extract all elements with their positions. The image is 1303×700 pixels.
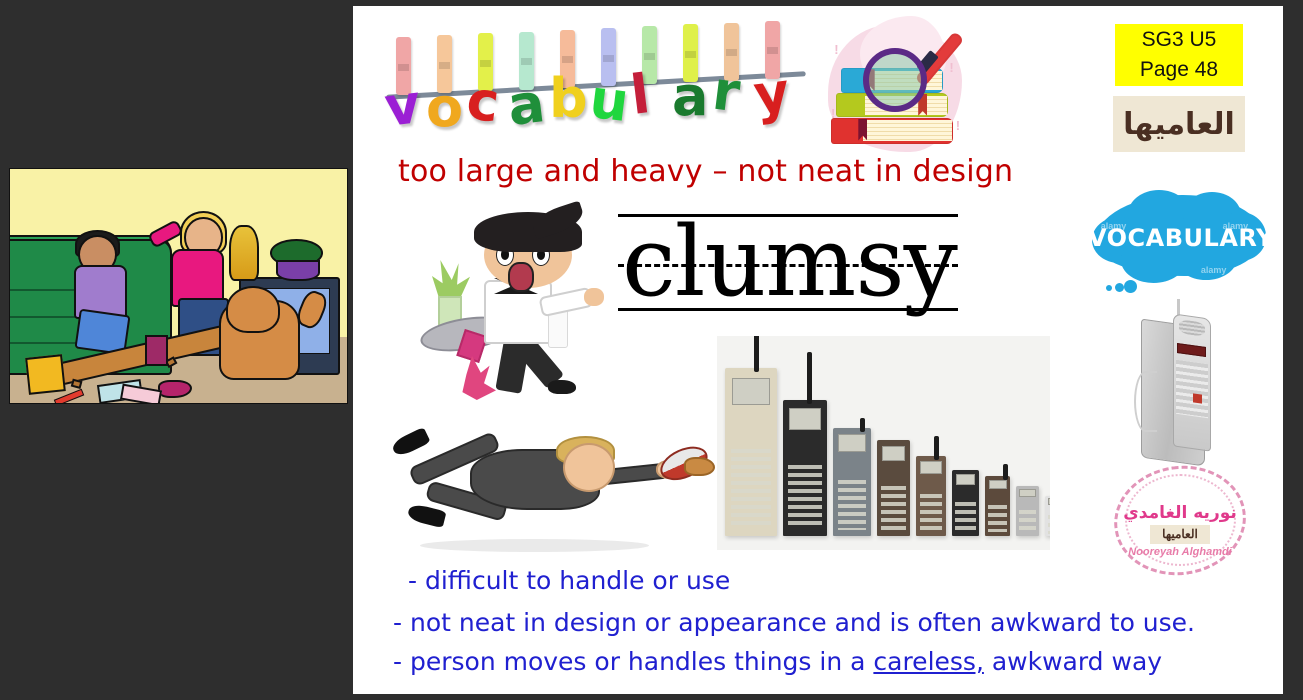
books-magnifier-clipart: ! ! ! ! (815, 16, 975, 161)
wreath-english-name: Nooreyah Alghamdi (1105, 546, 1255, 558)
lesson-reference-label: SG3 U5 Page 48 (1115, 24, 1243, 86)
diver-head (563, 443, 616, 492)
hanging-letter-y: y (751, 65, 793, 123)
hanging-letter-c: c (464, 74, 502, 131)
phone-antenna (934, 436, 939, 460)
mobile-phone-6 (952, 470, 979, 536)
hanging-letter-r: r (710, 63, 743, 120)
phone-wrist-strap (1134, 371, 1157, 432)
phone-antenna (754, 336, 759, 372)
cartoon-thumbnail-image[interactable] (9, 168, 348, 404)
waiter-hand (584, 288, 604, 306)
waiter-shoe (548, 380, 576, 394)
phone-end-key (1193, 394, 1202, 404)
handwriting-practice-block: clumsy (618, 206, 958, 316)
hanging-letter-a: a (672, 70, 708, 124)
phone-antenna (1003, 464, 1008, 480)
pink-drink-splash (456, 356, 496, 400)
mobile-phone-5 (916, 456, 946, 536)
fallen-book (25, 354, 66, 395)
phone-antenna (860, 418, 865, 432)
arabic-title-text: العاميها (1123, 107, 1235, 142)
vocabulary-clothesline-banner: vocabulary (386, 10, 806, 128)
mobile-phone-7 (985, 476, 1010, 536)
diver-shoe-lower (406, 502, 446, 528)
wreath-arabic-box: العاميها (1150, 525, 1210, 544)
green-drink-splash (432, 260, 470, 300)
bullet-line-2: - not neat in design or appearance and i… (393, 608, 1195, 637)
watermark-alamy-2: alamy (1223, 221, 1249, 231)
magnifier-lens (863, 48, 927, 112)
clumsy-waiter-clipart (408, 204, 608, 404)
lesson-ref-line1: SG3 U5 (1115, 25, 1243, 55)
headline-text: too large and heavy – not neat in design (398, 154, 1038, 189)
vocabulary-word: clumsy (622, 212, 962, 312)
bullet-line-1: - difficult to handle or use (408, 566, 730, 595)
hanging-letter-a: a (505, 76, 548, 134)
hanging-letter-b: b (549, 72, 588, 126)
wreath-arabic-name: نوريه الغامدي (1105, 503, 1255, 523)
mobile-phones-evolution-photo[interactable] (717, 336, 1050, 550)
vocabulary-thought-cloud: VOCABULARY alamy alamy alamy (1088, 188, 1270, 298)
diving-man-clipart (389, 411, 699, 556)
hanging-letter-u: u (587, 72, 632, 130)
spilled-glass (145, 335, 169, 365)
bullet-3-post: awkward way (984, 647, 1162, 676)
mobile-phone-4 (877, 440, 910, 536)
hanging-letter-o: o (426, 81, 463, 135)
brick-phone-image (1109, 306, 1254, 476)
watermark-alamy-3: alamy (1201, 265, 1227, 275)
mobile-phone-1 (725, 368, 777, 536)
hanging-letter-v: v (382, 77, 424, 135)
phone-antenna (807, 352, 812, 404)
plant-pot (276, 260, 320, 281)
teacher-signature-logo: نوريه الغامدي العاميها Nooreyah Alghamdi (1105, 461, 1255, 579)
phone-keypad (1176, 360, 1208, 419)
diver-shoe-upper (390, 427, 431, 459)
child-on-sofa (67, 235, 134, 352)
bullet-line-3: - person moves or handles things in a ca… (393, 647, 1162, 676)
bullet-3-underlined: careless, (873, 647, 984, 676)
mobile-phone-3 (833, 428, 871, 536)
watermark-alamy-1: alamy (1101, 221, 1127, 231)
diver-shadow (420, 539, 649, 552)
lesson-ref-line2: Page 48 (1115, 55, 1243, 85)
slide-canvas[interactable]: vocabulary ! ! ! ! too large and heavy – (353, 6, 1283, 694)
waiter-open-mouth (508, 262, 534, 292)
bullet-3-pre: - person moves or handles things in a (393, 647, 873, 676)
mobile-phone-2 (783, 400, 827, 536)
wreath-box-text: العاميها (1162, 527, 1198, 541)
dog-head (226, 286, 280, 333)
arabic-title-strip: العاميها (1113, 96, 1245, 152)
book-red (831, 118, 953, 144)
screenshot-canvas: vocabulary ! ! ! ! too large and heavy – (0, 0, 1303, 700)
mobile-phone-9 (1045, 496, 1050, 536)
mobile-phone-8 (1016, 486, 1039, 536)
falling-food (684, 457, 715, 476)
